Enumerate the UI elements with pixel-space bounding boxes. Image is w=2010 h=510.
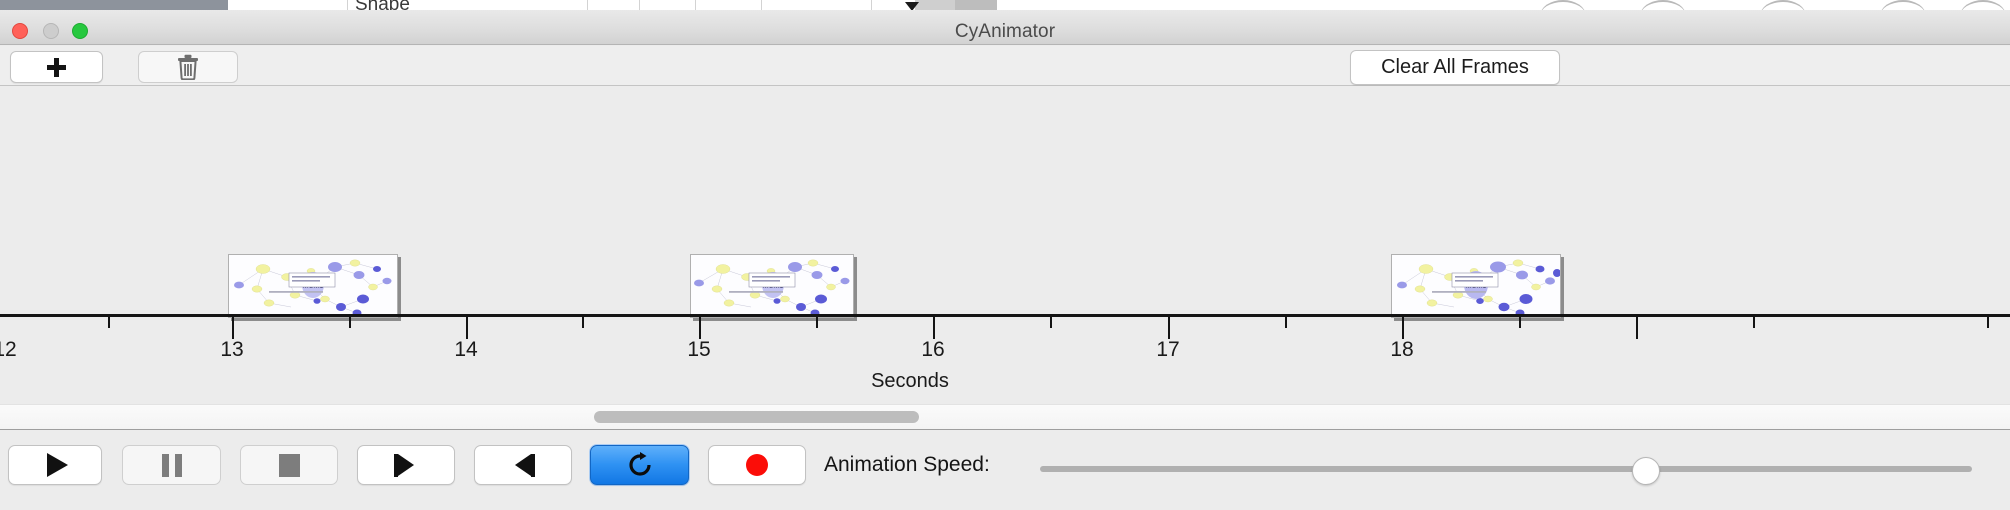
axis-minor-tick: [349, 317, 351, 328]
axis-tick-label: 12: [0, 338, 17, 362]
window-titlebar[interactable]: CyAnimator: [0, 10, 2010, 45]
animation-speed-slider-track[interactable]: [1040, 466, 1972, 472]
frame-toolbar: Clear All Frames: [0, 46, 2010, 86]
axis-major-tick: [699, 317, 701, 339]
pause-icon: [162, 454, 182, 477]
playback-controls-bar: Animation Speed:: [0, 431, 2010, 510]
delete-frame-button[interactable]: [138, 51, 238, 83]
axis-minor-tick: [1753, 317, 1755, 328]
axis-major-tick: [1636, 317, 1638, 339]
loop-button[interactable]: [590, 445, 689, 485]
pause-button[interactable]: [122, 445, 221, 485]
axis-minor-tick: [816, 317, 818, 328]
clear-all-frames-button[interactable]: Clear All Frames: [1350, 50, 1560, 85]
horizontal-scrollbar-thumb[interactable]: [594, 411, 919, 423]
axis-minor-tick: [582, 317, 584, 328]
window-title: CyAnimator: [0, 21, 2010, 43]
animation-speed-slider-thumb[interactable]: [1632, 457, 1660, 485]
axis-minor-tick: [108, 317, 110, 328]
plus-icon: [47, 58, 66, 77]
skip-back-icon: [394, 454, 418, 477]
frame-thumbnail-2[interactable]: MCM1: [690, 254, 854, 318]
axis-minor-tick: [1987, 317, 1989, 328]
add-frame-button[interactable]: [10, 51, 103, 83]
axis-tick-label: 14: [454, 338, 477, 362]
axis-minor-tick: [1285, 317, 1287, 328]
animation-speed-slider[interactable]: [1040, 457, 1972, 483]
skip-to-start-button[interactable]: [357, 445, 455, 485]
horizontal-scrollbar[interactable]: [0, 404, 2010, 430]
axis-major-tick: [1402, 317, 1404, 339]
skip-to-end-button[interactable]: [474, 445, 572, 485]
record-icon: [746, 454, 768, 476]
axis-minor-tick: [1050, 317, 1052, 328]
clear-all-frames-label: Clear All Frames: [1381, 56, 1529, 79]
skip-forward-icon: [511, 454, 535, 477]
frame-thumbnail-1[interactable]: MCM1: [228, 254, 398, 318]
animation-speed-label: Animation Speed:: [824, 453, 990, 477]
loop-icon: [627, 452, 653, 478]
axis-major-tick: [232, 317, 234, 339]
axis-major-tick: [1168, 317, 1170, 339]
timeline-panel[interactable]: MCM1: [0, 86, 2010, 404]
cyanimator-window: Shape CyAnimator Clear All Fra: [0, 0, 2010, 510]
axis-major-tick: [466, 317, 468, 339]
stop-icon: [279, 454, 300, 477]
axis-tick-label: 17: [1156, 338, 1179, 362]
axis-tick-label: 16: [921, 338, 944, 362]
axis-tick-label: 13: [220, 338, 243, 362]
axis-title: Seconds: [871, 370, 949, 393]
trash-icon: [177, 54, 199, 80]
stop-button[interactable]: [240, 445, 338, 485]
axis-minor-tick: [1519, 317, 1521, 328]
play-icon: [47, 453, 68, 477]
timeline-axis: [0, 314, 2010, 317]
frame-thumbnail-3[interactable]: MCM1: [1391, 254, 1561, 318]
axis-tick-label: 15: [687, 338, 710, 362]
axis-major-tick: [933, 317, 935, 339]
record-button[interactable]: [708, 445, 806, 485]
play-button[interactable]: [8, 445, 102, 485]
axis-tick-label: 18: [1390, 338, 1413, 362]
